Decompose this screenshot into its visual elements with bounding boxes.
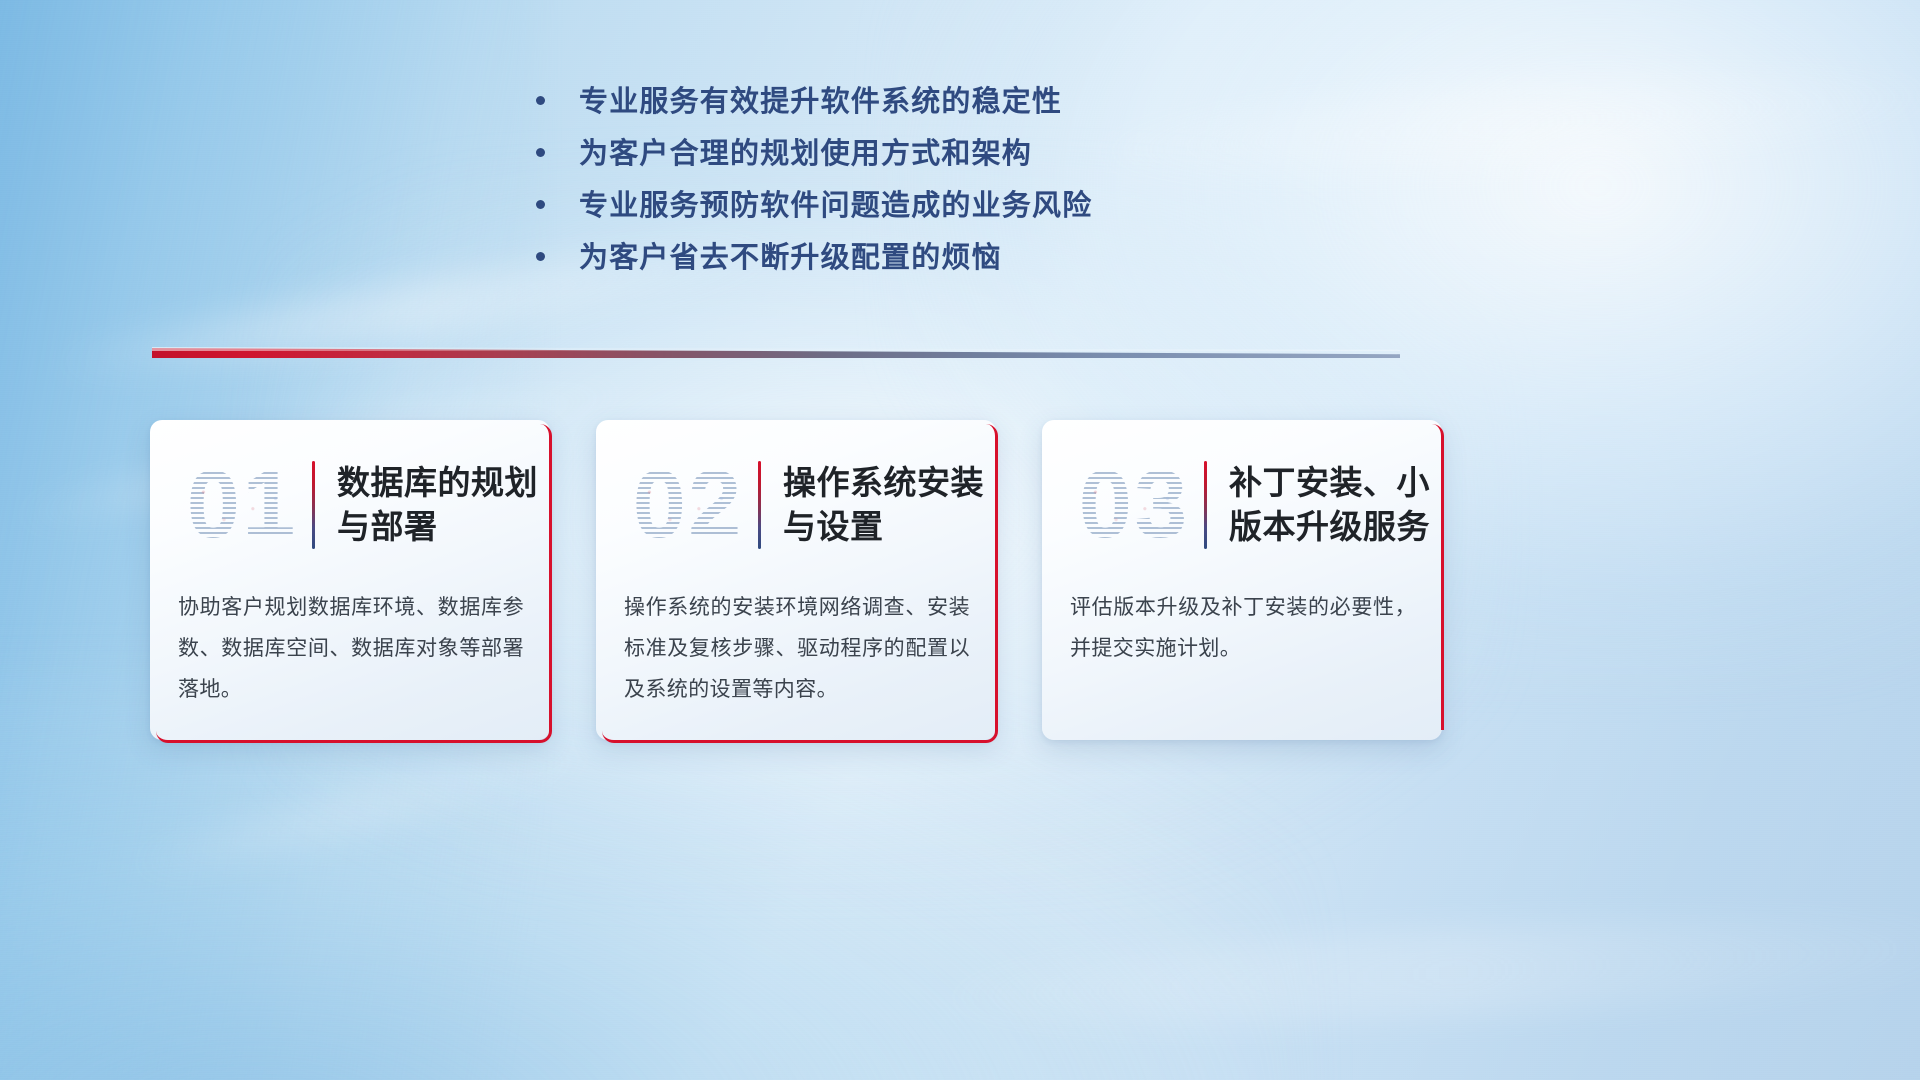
bullet-text: 为客户合理的规划使用方式和架构 [579, 140, 1032, 169]
bullet-text: 专业服务预防软件问题造成的业务风险 [579, 192, 1092, 221]
card-divider-bar [1204, 461, 1207, 549]
service-card-02[interactable]: 02 操作系统安装与设置 操作系统的安装环境网络调查、安装标准及复核步骤、驱动程… [596, 420, 996, 740]
bullet-text: 为客户省去不断升级配置的烦恼 [579, 244, 1002, 273]
benefits-bullet-list: 专业服务有效提升软件系统的稳定性 为客户合理的规划使用方式和架构 专业服务预防软… [536, 88, 1256, 296]
card-title: 补丁安装、小版本升级服务 [1229, 461, 1442, 548]
card-number-watermark: 03 [1068, 457, 1200, 553]
service-card-03[interactable]: 03 补丁安装、小版本升级服务 评估版本升级及补丁安装的必要性，并提交实施计划。 [1042, 420, 1442, 740]
card-number-text: 01 [176, 457, 308, 553]
card-body-text: 操作系统的安装环境网络调查、安装标准及复核步骤、驱动程序的配置以及系统的设置等内… [624, 588, 970, 711]
list-item: 专业服务有效提升软件系统的稳定性 [536, 88, 1256, 140]
card-header: 01 数据库的规划与部署 [150, 440, 550, 570]
bullet-dot-icon [536, 96, 545, 105]
bullet-dot-icon [536, 148, 545, 157]
bullet-text: 专业服务有效提升软件系统的稳定性 [579, 88, 1062, 117]
service-card-row: 01 数据库的规划与部署 协助客户规划数据库环境、数据库参数、数据库空间、数据库… [150, 420, 1770, 740]
bullet-dot-icon [536, 200, 545, 209]
slide-canvas: 专业服务有效提升软件系统的稳定性 为客户合理的规划使用方式和架构 专业服务预防软… [0, 0, 1920, 1080]
card-divider-bar [312, 461, 315, 549]
card-body-text: 协助客户规划数据库环境、数据库参数、数据库空间、数据库对象等部署落地。 [178, 588, 524, 711]
card-header: 03 补丁安装、小版本升级服务 [1042, 440, 1442, 570]
card-number-watermark: 01 [176, 457, 308, 553]
service-card-01[interactable]: 01 数据库的规划与部署 协助客户规划数据库环境、数据库参数、数据库空间、数据库… [150, 420, 550, 740]
card-body-text: 评估版本升级及补丁安装的必要性，并提交实施计划。 [1070, 588, 1416, 670]
card-number-watermark: 02 [622, 457, 754, 553]
card-number-text: 02 [622, 457, 754, 553]
card-divider-bar [758, 461, 761, 549]
section-divider [152, 344, 1400, 362]
divider-sheen [152, 347, 1400, 351]
bullet-dot-icon [536, 252, 545, 261]
card-title: 操作系统安装与设置 [783, 461, 996, 548]
card-title: 数据库的规划与部署 [337, 461, 550, 548]
list-item: 为客户合理的规划使用方式和架构 [536, 140, 1256, 192]
card-number-text: 03 [1068, 457, 1200, 553]
list-item: 专业服务预防软件问题造成的业务风险 [536, 192, 1256, 244]
card-header: 02 操作系统安装与设置 [596, 440, 996, 570]
list-item: 为客户省去不断升级配置的烦恼 [536, 244, 1256, 296]
